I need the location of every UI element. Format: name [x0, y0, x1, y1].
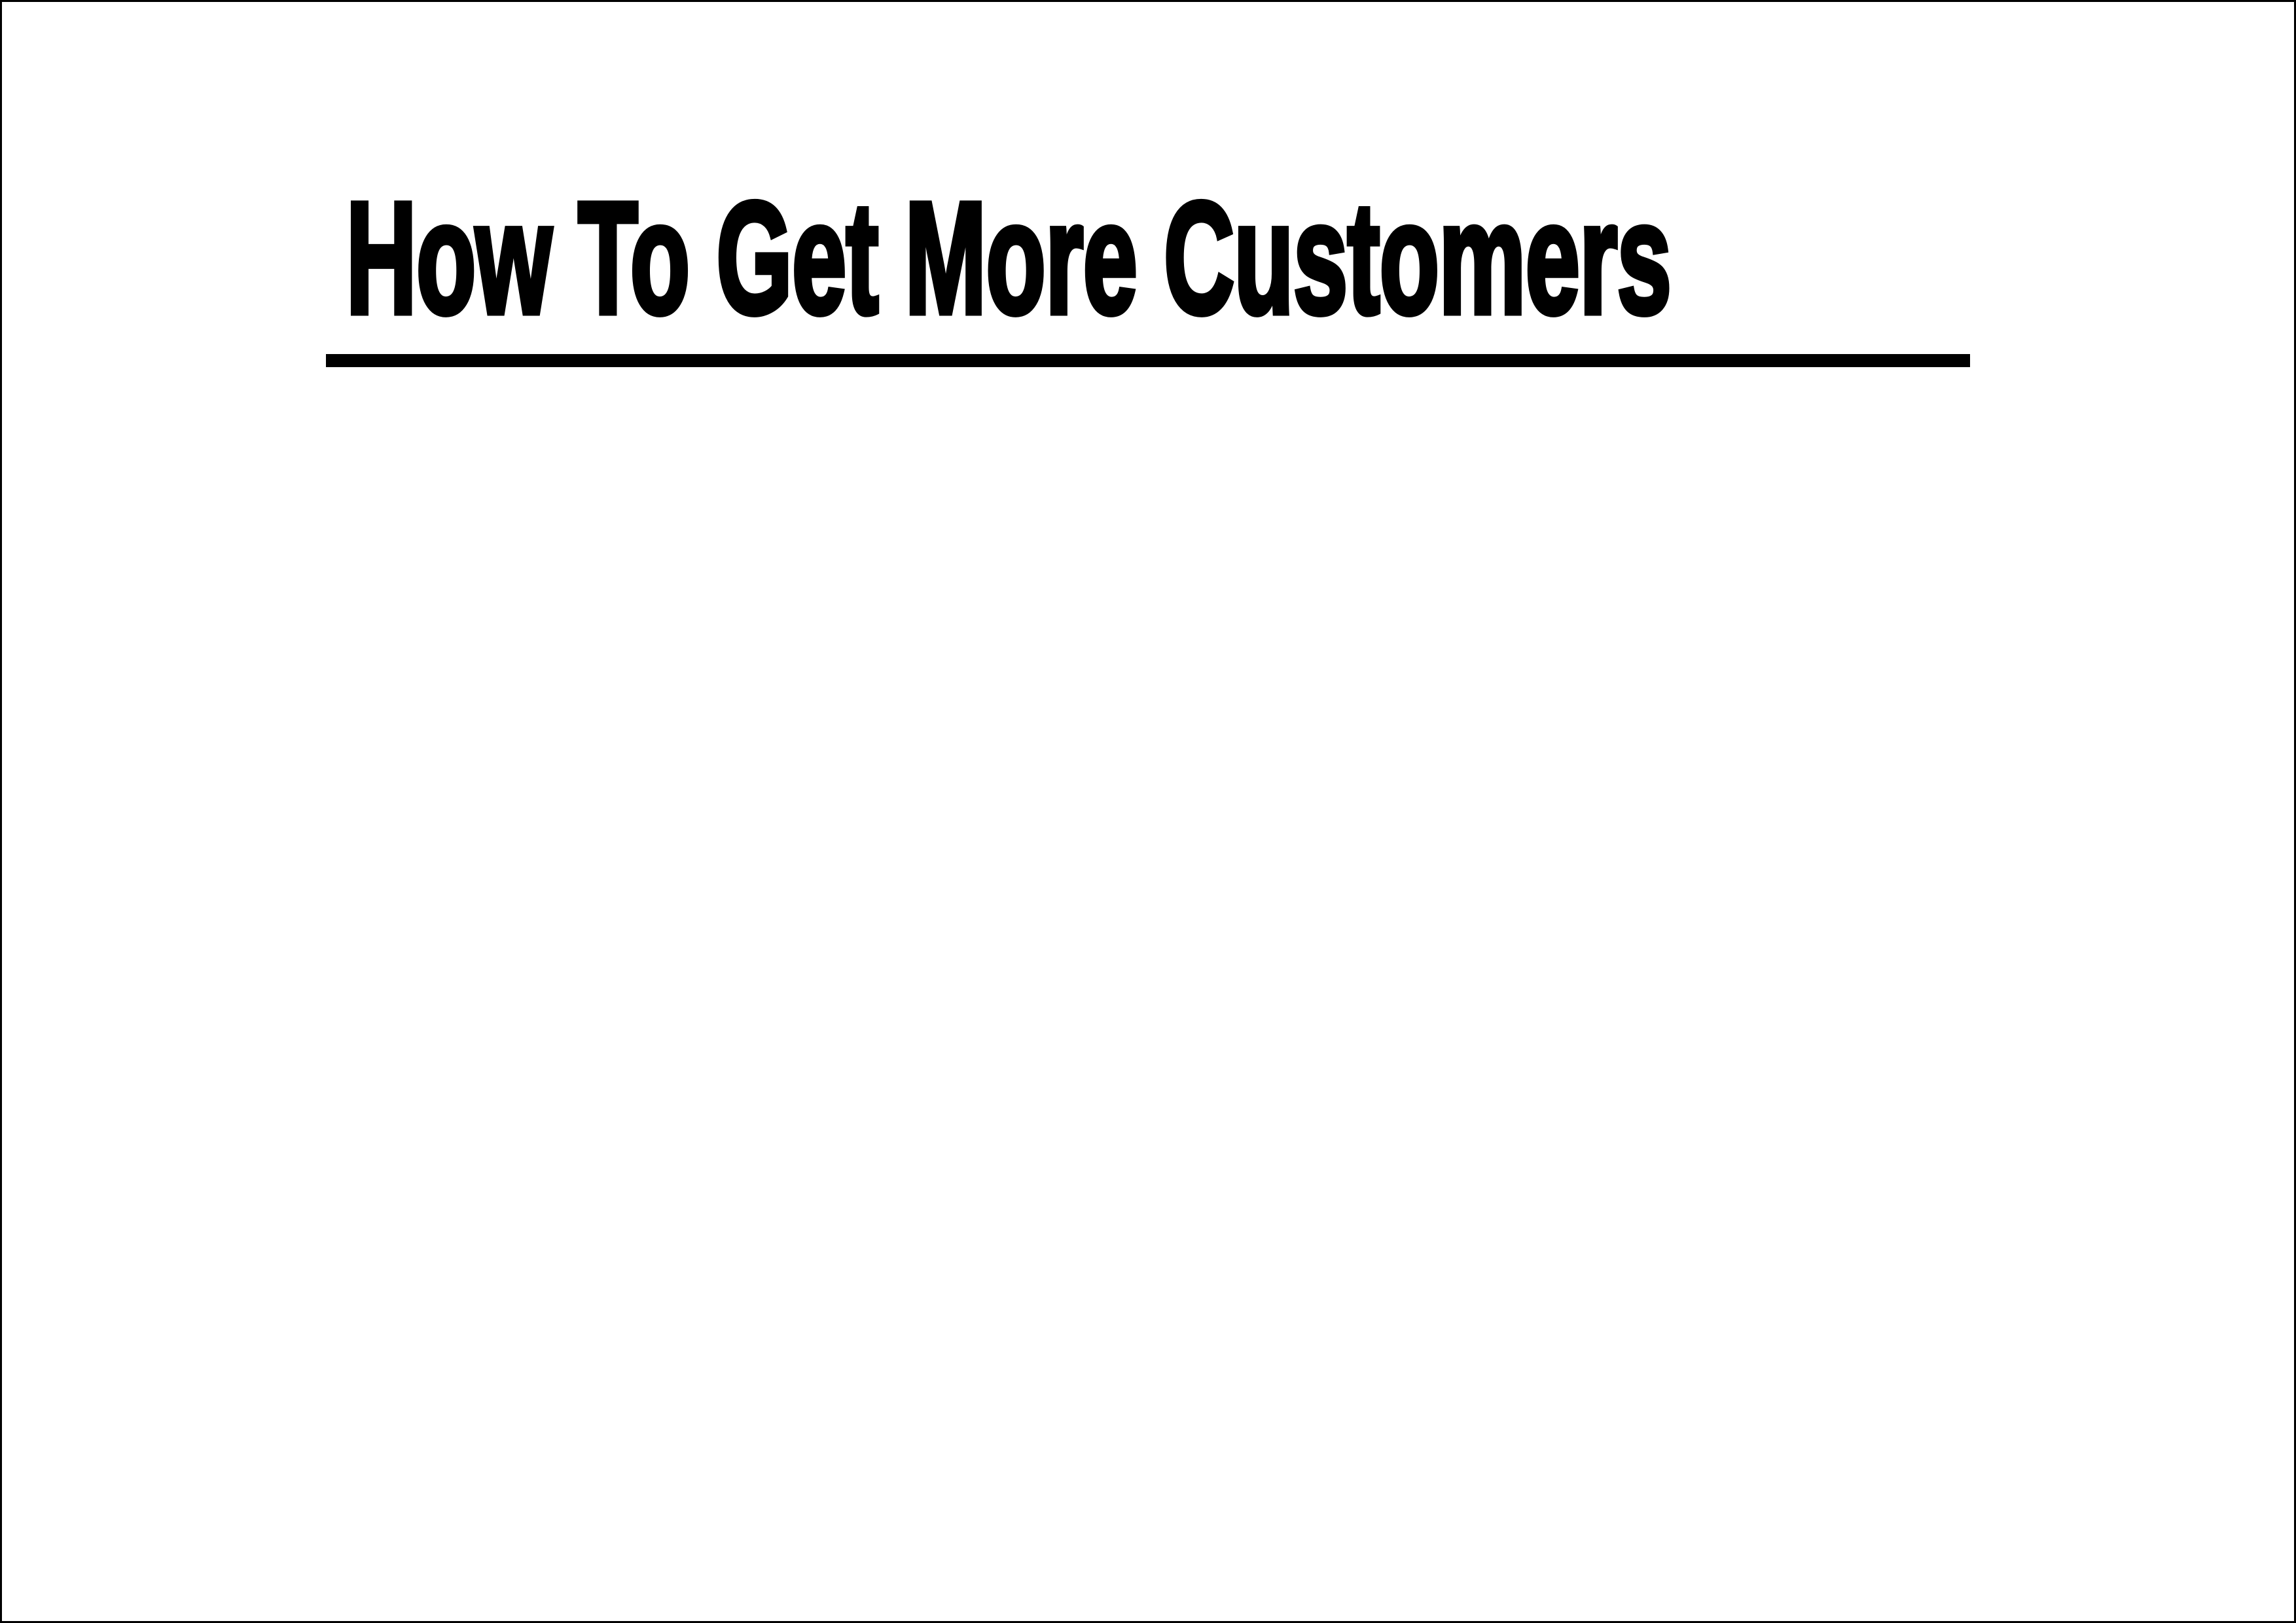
title-underline-rule: [326, 354, 1970, 367]
slide-canvas: How To Get More Customers: [0, 0, 2296, 1623]
page-title: How To Get More Customers: [326, 177, 1990, 340]
title-block: How To Get More Customers: [326, 177, 1970, 340]
slide-body-content: [326, 419, 1970, 1518]
